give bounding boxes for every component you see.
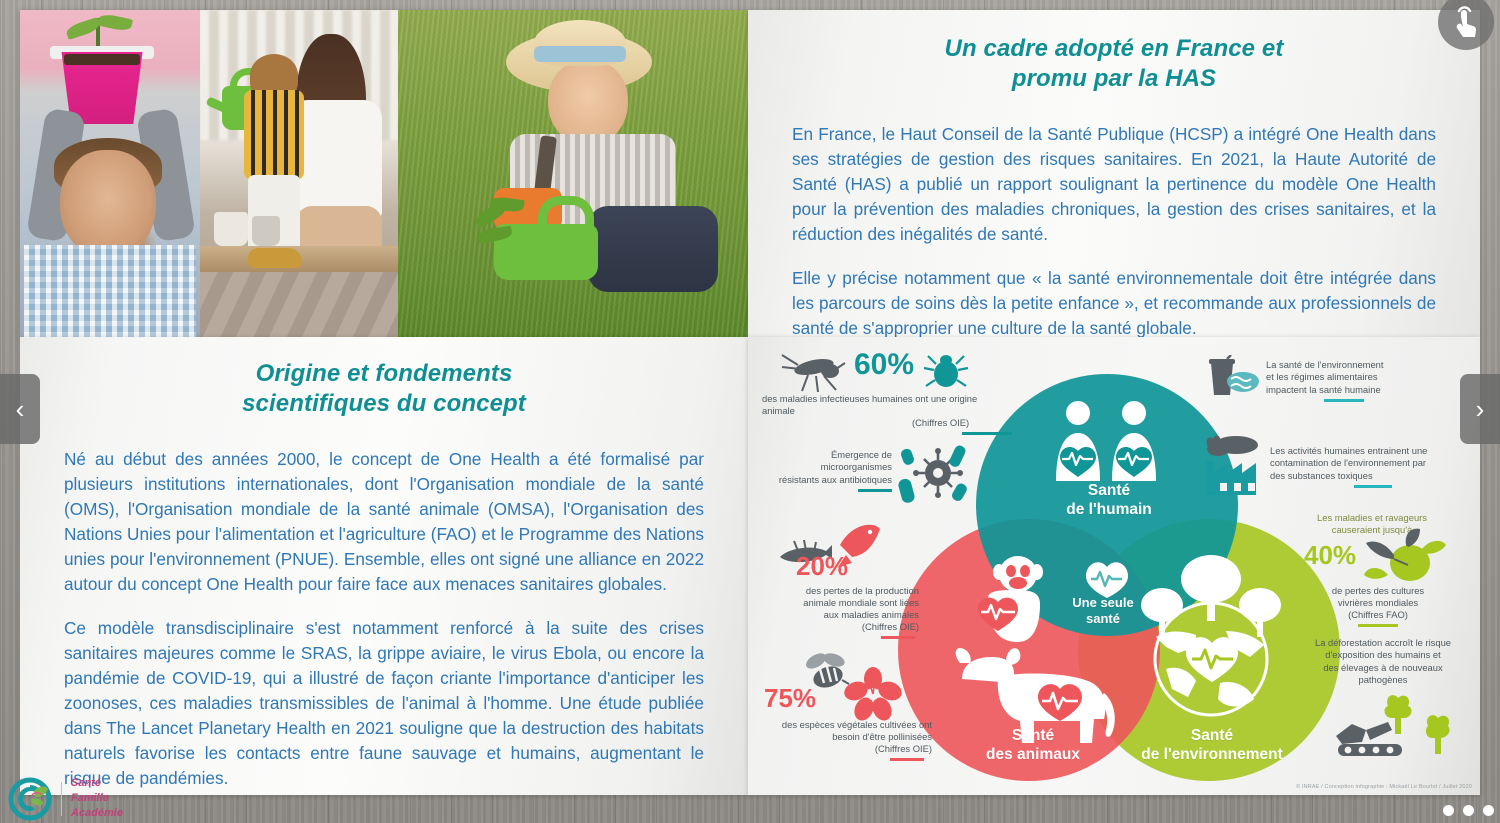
venn-label-environment-line2: de l'environnement [1141, 746, 1283, 763]
photo-mother-and-child-watering [200, 10, 398, 337]
annot-deforestation-line3: des élevages à de nouveaux [1323, 662, 1442, 673]
plant-pot-1 [214, 212, 248, 246]
stat-20-caption-line3: aux maladies animales [824, 609, 919, 620]
stat-20-caption: des pertes de la production animale mond… [754, 585, 919, 639]
brand-line-3: Académie [71, 807, 123, 819]
brand-line-1: Santé [71, 777, 101, 789]
venn-label-environment: Santé de l'environnement [1120, 727, 1304, 765]
photo-child-holding-pink-pot [20, 10, 200, 337]
paved-ground [200, 272, 398, 337]
small-plant [472, 198, 532, 264]
venn-label-human-line2: de l'humain [1066, 501, 1152, 518]
venn-label-animals-line1: Santé [1012, 727, 1054, 744]
stat-40-underline [1358, 624, 1398, 627]
venn-label-center-line2: santé [1086, 611, 1120, 626]
chevron-right-icon: › [1476, 394, 1485, 425]
panel-origine-title: Origine et fondements scientifiques du c… [60, 359, 708, 419]
panel-origine-title-line2: scientifiques du concept [242, 390, 526, 417]
boy-pants [588, 206, 718, 292]
panel-has-title-line2: promu par la HAS [1012, 65, 1216, 92]
brand-divider [61, 782, 62, 816]
annot-antibio-line2: résistants aux antibiotiques [779, 474, 892, 485]
panel-one-health-infographic: Santé de l'humain [748, 337, 1480, 795]
stat-40-caption-line1: de pertes des cultures [1332, 585, 1424, 596]
infographic-credit: © INRAE / Conception infographie : Micka… [1296, 784, 1472, 790]
stat-60-caption-line1: des maladies infectieuses humaines ont u… [762, 393, 977, 416]
pot-soil [64, 54, 140, 65]
pager-dot-2[interactable] [1463, 805, 1474, 816]
child-face [60, 150, 156, 258]
stat-40-lead-line1: Les maladies et ravageurs [1317, 512, 1427, 523]
stat-20-caption-line2: animale mondiale sont liées [803, 597, 919, 608]
annot-antibio-line1: Émergence de microorganismes [821, 449, 892, 472]
venn-label-environment-line1: Santé [1191, 727, 1233, 744]
stat-20-value: 20% [796, 553, 848, 579]
carousel-slide: Un cadre adopté en France et promu par l… [20, 10, 1480, 795]
stat-75-caption-line3: (Chiffres OIE) [875, 743, 932, 754]
stat-60-caption-line2: (Chiffres OIE) [912, 417, 969, 429]
heart-pulse-icon [1085, 559, 1129, 599]
child-plaid-shirt [24, 245, 196, 337]
annot-deforestation: La déforestation accroît le risque d'exp… [1288, 637, 1478, 687]
tap-hand-icon [1451, 6, 1481, 38]
hat-blue-band [534, 46, 626, 62]
monkey-and-cow-with-heart-icon [944, 552, 1054, 644]
child-checked-shirt [244, 90, 304, 180]
carousel-next-button[interactable]: › [1460, 374, 1500, 444]
carousel-pagination[interactable] [1443, 805, 1494, 816]
panel-has-paragraph-2: Elle y précise notamment que « la santé … [792, 266, 1436, 337]
stat-60-caption: des maladies infectieuses humaines ont u… [762, 393, 1012, 435]
stat-40-caption: de pertes des cultures vivrières mondial… [1288, 585, 1468, 627]
brand-mark-icon [8, 777, 52, 821]
stat-40-caption-line3: (Chiffres FAO) [1348, 609, 1408, 620]
flower-icon [844, 667, 902, 723]
drink-and-bowl-icon [1203, 355, 1263, 405]
stat-75-caption: des espèces végétales cultivées ont beso… [752, 719, 932, 761]
chevron-left-icon: ‹ [16, 394, 25, 425]
capsule-icon [900, 447, 916, 466]
tick-icon [922, 348, 970, 390]
sprout-leaf-right [97, 13, 133, 33]
annot-food-line3: impactent la santé humaine [1266, 384, 1381, 395]
brand-logo[interactable]: Santé Famille Académie [8, 776, 123, 821]
venn-label-human: Santé de l'humain [1034, 482, 1184, 520]
stat-60-value: 60% [854, 350, 914, 380]
stat-75-underline [890, 758, 924, 761]
globe-with-trees-and-heart-icon [1126, 547, 1296, 727]
beetroot-icon [1360, 525, 1446, 585]
stat-20-caption-line4: (Chiffres OIE) [862, 621, 919, 632]
panel-origine-fondements: Origine et fondements scientifiques du c… [20, 337, 748, 795]
stat-75-caption-line1: des espèces végétales cultivées ont [782, 719, 932, 730]
panel-origine-paragraph-2: Ce modèle transdisciplinaire s'est notam… [64, 616, 704, 791]
annot-industry-line1: Les activités humaines entrainent une [1270, 445, 1427, 456]
panel-has-title: Un cadre adopté en France et promu par l… [788, 34, 1440, 94]
panel-has-paragraph-1: En France, le Haut Conseil de la Santé P… [792, 122, 1436, 247]
annot-industry-line2: contamination de l'environnement par [1270, 457, 1426, 468]
virus-icon [896, 437, 976, 509]
venn-label-animals: Santé des animaux [953, 727, 1113, 765]
annot-food: La santé de l'environnement et les régim… [1266, 359, 1444, 402]
annot-deforestation-line2: d'exposition des humains et [1325, 649, 1440, 660]
annot-food-line1: La santé de l'environnement [1266, 359, 1384, 370]
annot-food-underline [1324, 399, 1364, 402]
stat-20-underline [881, 636, 915, 639]
annot-deforestation-line4: pathogènes [1358, 674, 1407, 685]
venn-label-center-line1: Une seule [1072, 595, 1133, 610]
annot-deforestation-line1: La déforestation accroît le risque [1315, 637, 1451, 648]
infographic-canvas: Santé de l'humain [748, 337, 1480, 795]
carousel-prev-button[interactable]: ‹ [0, 374, 40, 444]
venn-label-animals-line2: des animaux [986, 746, 1080, 763]
excavator-icon [1332, 692, 1452, 764]
panel-has-title-line1: Un cadre adopté en France et [945, 35, 1284, 62]
annot-industry-line3: des substances toxiques [1270, 470, 1373, 481]
annot-antibio-underline [858, 489, 892, 492]
stat-40-caption-line2: vivrières mondiales [1338, 597, 1418, 608]
mosquito-icon [774, 349, 846, 393]
pager-dot-3[interactable] [1483, 805, 1494, 816]
factory-smoke-icon [1198, 433, 1266, 495]
plant-pot-2 [252, 216, 280, 246]
annot-industry-underline [1354, 485, 1392, 488]
brand-line-2: Famille [71, 792, 109, 804]
annot-industry: Les activités humaines entrainent une co… [1270, 445, 1470, 488]
stat-60-underline [962, 432, 1012, 435]
panel-origine-title-line1: Origine et fondements [256, 360, 513, 387]
stat-75-caption-line2: besoin d'être pollinisées [832, 731, 932, 742]
photo-strip [20, 10, 748, 337]
child-shoe [248, 248, 302, 268]
pager-dot-1[interactable] [1443, 805, 1454, 816]
cut-tree-icon [1385, 695, 1412, 718]
photo-boy-in-grass-with-watering-can [398, 10, 748, 337]
panel-origine-paragraph-1: Né au début des années 2000, le concept … [64, 447, 704, 597]
annot-antibio: Émergence de microorganismes résistants … [760, 449, 892, 492]
annot-food-line2: et les régimes alimentaires [1266, 371, 1378, 382]
stat-20-caption-line1: des pertes de la production [806, 585, 919, 596]
venn-label-center: Une seule santé [1048, 595, 1158, 627]
two-people-with-heart-icon [1048, 399, 1168, 485]
brand-wordmark: Santé Famille Académie [71, 776, 123, 821]
stat-75-value: 75% [764, 685, 816, 711]
venn-label-human-line1: Santé [1088, 482, 1130, 499]
panel-cadre-france-has: Un cadre adopté en France et promu par l… [748, 10, 1480, 337]
stat-40-value: 40% [1304, 542, 1356, 568]
